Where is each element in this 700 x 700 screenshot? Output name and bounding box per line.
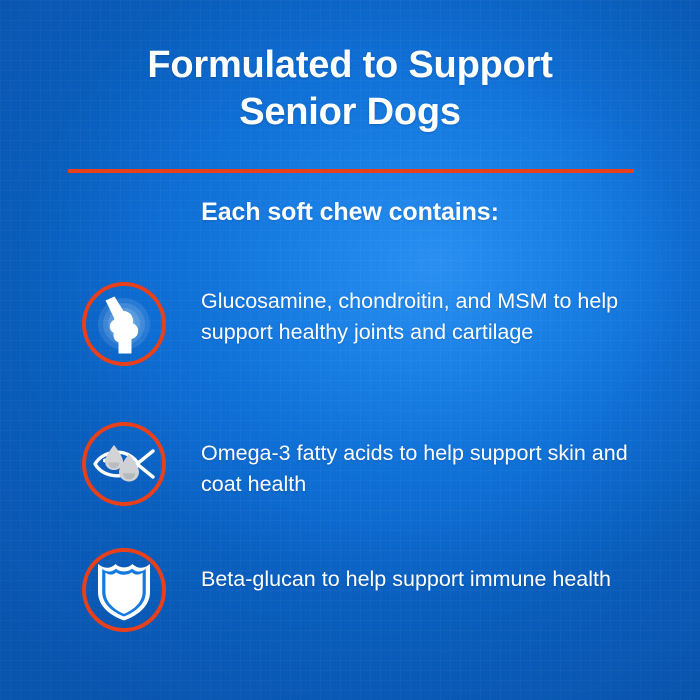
infographic-poster: Formulated to Support Senior Dogs Each s… [0,0,700,700]
benefit-icon-circle [82,282,166,366]
benefit-icon-circle [82,548,166,632]
subheading: Each soft chew contains: [60,198,640,227]
page-title-line-2: Senior Dogs [60,89,640,136]
poster-content: Formulated to Support Senior Dogs Each s… [0,0,700,700]
benefit-item: Glucosamine, chondroitin, and MSM to hel… [0,282,700,366]
divider [68,169,634,173]
benefit-item: Beta-glucan to help support immune healt… [0,548,700,632]
benefit-item: Omega-3 fatty acids to help support skin… [0,422,700,506]
page-title: Formulated to Support Senior Dogs [60,42,640,136]
benefit-text: Beta-glucan to help support immune healt… [201,548,665,595]
fish-oil-droplet-icon [91,433,157,495]
benefit-text: Glucosamine, chondroitin, and MSM to hel… [201,282,665,347]
benefit-icon-circle [82,422,166,506]
joint-bone-icon [90,290,158,358]
benefit-text: Omega-3 fatty acids to help support skin… [201,422,665,499]
page-title-line-1: Formulated to Support [60,42,640,89]
shield-icon [95,558,153,622]
